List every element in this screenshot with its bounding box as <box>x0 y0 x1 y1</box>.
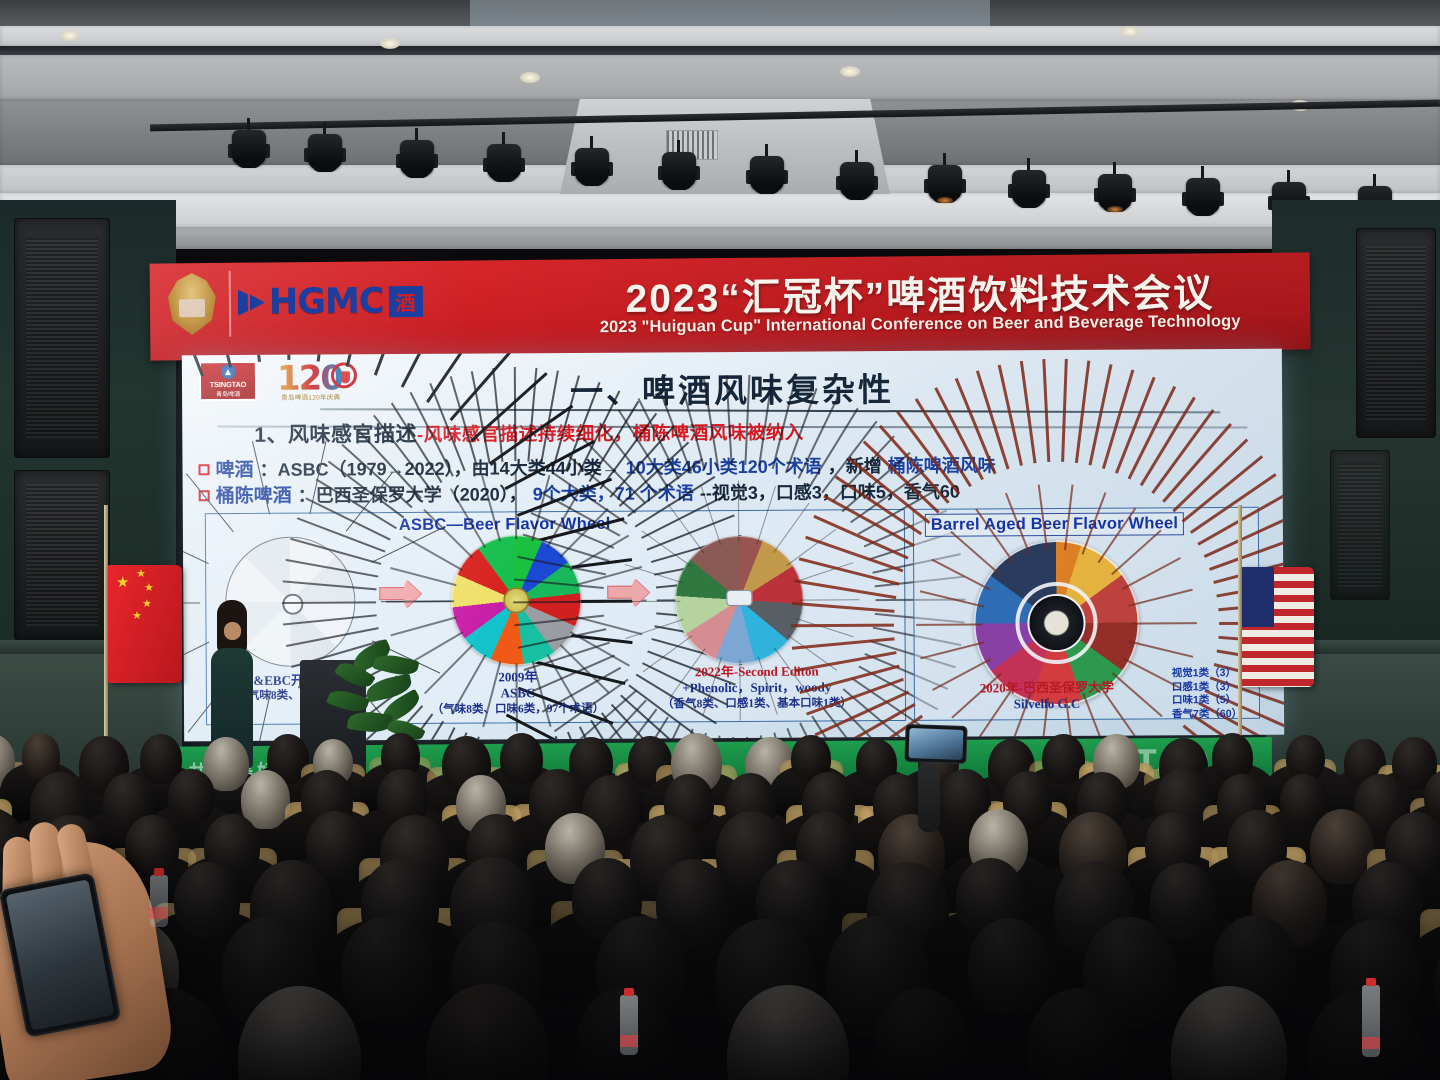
emblem-icon <box>166 273 219 335</box>
caption-line: 2020年-巴西圣保罗大学 <box>922 679 1172 697</box>
arrow-right-icon-1 <box>379 576 421 610</box>
panel-heading-barrel-aged: Barrel Aged Beer Flavor Wheel <box>925 512 1184 537</box>
flag-star-icon: ★ <box>116 575 129 590</box>
bullet-body: ：巴西圣保罗大学（2020）， <box>298 480 527 507</box>
hgmc-mark-icon <box>238 285 264 319</box>
downlight <box>60 30 80 41</box>
slide-title: 一、啤酒风味复杂性 <box>182 361 1282 416</box>
presenter-face <box>224 622 241 640</box>
downlight <box>840 66 860 77</box>
hgmc-logo: HGMC 酒 <box>238 281 423 323</box>
asbc-2022-wheel <box>675 536 804 665</box>
bullet-lead: 桶陈啤酒 <box>216 481 292 508</box>
hgmc-wordmark: HGMC <box>269 281 384 322</box>
wheel-tick <box>916 623 982 625</box>
water-bottle <box>620 995 638 1055</box>
right-speaker-array <box>1330 450 1390 600</box>
caption-line: 2009年 <box>420 669 616 686</box>
right-speaker-array <box>1356 228 1436 438</box>
audience-phone-raised <box>904 724 967 764</box>
subtitle-main: 1、风味感官描述 <box>254 423 417 447</box>
caption-line: +Phenolic，Spirit，woody <box>654 679 860 697</box>
audience-head <box>168 769 215 824</box>
flag-star-icon: ★ <box>136 569 146 580</box>
ceiling-soffit <box>0 193 1440 227</box>
downlight <box>520 72 540 83</box>
flag-star-icon: ★ <box>144 583 154 594</box>
water-bottle <box>150 875 168 927</box>
hgmc-square-glyph: 酒 <box>388 285 422 316</box>
china-flag-cloth: ★ ★ ★ ★ ★ <box>108 565 182 683</box>
flag-star-icon: ★ <box>132 611 142 622</box>
arrow-right-icon-2 <box>607 575 649 609</box>
ceiling-panel <box>0 26 1440 46</box>
audience-head <box>500 733 543 784</box>
ceiling-slot <box>0 46 1440 55</box>
raised-arm <box>918 762 940 832</box>
ceiling <box>0 0 1440 245</box>
wheel-hub <box>282 594 303 615</box>
conference-photo: HGMC 酒 2023“汇冠杯”啤酒饮料技术会议 2023 "Huiguan C… <box>0 0 1440 1080</box>
wheel-tick <box>1131 622 1197 624</box>
usa-flag-canton <box>1242 567 1274 627</box>
ceiling-panel <box>0 55 1440 99</box>
usa-flag-cloth <box>1242 567 1314 687</box>
bullet-square-icon <box>198 464 209 475</box>
conference-banner: HGMC 酒 2023“汇冠杯”啤酒饮料技术会议 2023 "Huiguan C… <box>150 252 1311 360</box>
bullet-lead: 啤酒 <box>215 455 253 482</box>
foreground-shadow <box>0 840 1440 1080</box>
downlight <box>380 38 400 49</box>
water-bottle <box>1362 985 1380 1057</box>
wheel-separator-ring <box>1020 586 1093 659</box>
wheel-hub <box>726 590 752 607</box>
ceiling-shadow-band <box>0 227 1440 249</box>
left-speaker-array <box>14 218 110 458</box>
flag-star-icon: ★ <box>142 599 152 610</box>
ceiling-skylight <box>470 0 990 26</box>
downlight <box>1120 26 1140 37</box>
banner-divider <box>229 271 232 337</box>
audience-head <box>1042 734 1084 784</box>
